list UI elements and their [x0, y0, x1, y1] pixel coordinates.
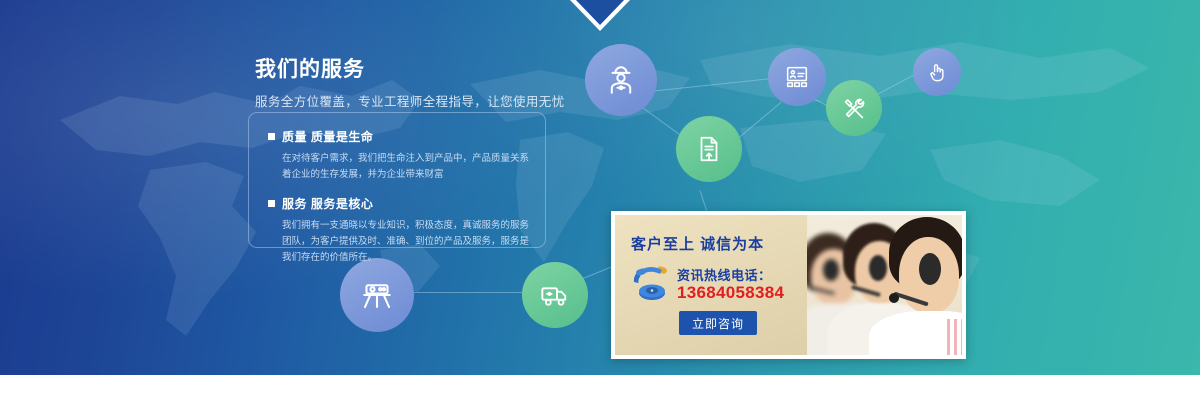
- telephone-icon: [629, 263, 673, 308]
- service-banner: 我们的服务 服务全方位覆盖，专业工程师全程指导，让您使用无忧 质量 质量是生命 …: [0, 0, 1200, 375]
- node-training-board[interactable]: [768, 48, 826, 106]
- feature-body: 我们拥有一支通晓以专业知识，积极态度，真诚服务的服务团队，为客户提供及时、准确、…: [282, 218, 532, 266]
- engineer-worker-icon: [604, 63, 638, 97]
- hand-click-icon: [926, 61, 949, 84]
- top-chevron-notch: [569, 0, 631, 31]
- contact-card-photo: [807, 215, 962, 355]
- survey-tripod-icon: [359, 277, 395, 313]
- page-title: 我们的服务: [255, 56, 555, 84]
- node-document-upload[interactable]: [676, 116, 742, 182]
- delivery-truck-icon: [539, 279, 571, 311]
- call-center-agents-photo: [807, 215, 962, 355]
- square-bullet-icon: [268, 133, 275, 140]
- hotline-label: 资讯热线电话：: [677, 265, 772, 284]
- feature-block-list: 质量 质量是生命 在对待客户需求，我们把生命注入到产品中，产品质量关系着企业的生…: [268, 128, 544, 278]
- training-board-icon: [783, 63, 811, 91]
- node-engineer-worker[interactable]: [585, 44, 657, 116]
- document-upload-icon: [694, 134, 724, 164]
- card-slogan: 客户至上 诚信为本: [631, 233, 764, 254]
- feature-body: 在对待客户需求，我们把生命注入到产品中，产品质量关系着企业的生存发展，并为企业带…: [282, 151, 532, 183]
- hotline-number: 13684058384: [677, 283, 784, 303]
- feature-block: 服务 服务是核心 我们拥有一支通晓以专业知识，积极态度，真诚服务的服务团队，为客…: [268, 195, 544, 266]
- node-hand-click[interactable]: [913, 48, 961, 96]
- contact-card: 客户至上 诚信为本 资讯热线电话： 13684058384 立即咨询: [611, 211, 966, 359]
- node-tools[interactable]: [826, 80, 882, 136]
- contact-card-info: 客户至上 诚信为本 资讯热线电话： 13684058384 立即咨询: [615, 215, 807, 355]
- square-bullet-icon: [268, 200, 275, 207]
- consult-now-button[interactable]: 立即咨询: [679, 311, 757, 335]
- service-text-column: 我们的服务 服务全方位覆盖，专业工程师全程指导，让您使用无忧: [255, 56, 555, 112]
- tools-wrench-screwdriver-icon: [841, 95, 868, 122]
- feature-title: 服务 服务是核心: [282, 195, 373, 212]
- feature-block: 质量 质量是生命 在对待客户需求，我们把生命注入到产品中，产品质量关系着企业的生…: [268, 128, 544, 183]
- page-subtitle: 服务全方位覆盖，专业工程师全程指导，让您使用无忧: [255, 92, 555, 112]
- connector-line: [404, 292, 522, 293]
- feature-title: 质量 质量是生命: [282, 128, 373, 145]
